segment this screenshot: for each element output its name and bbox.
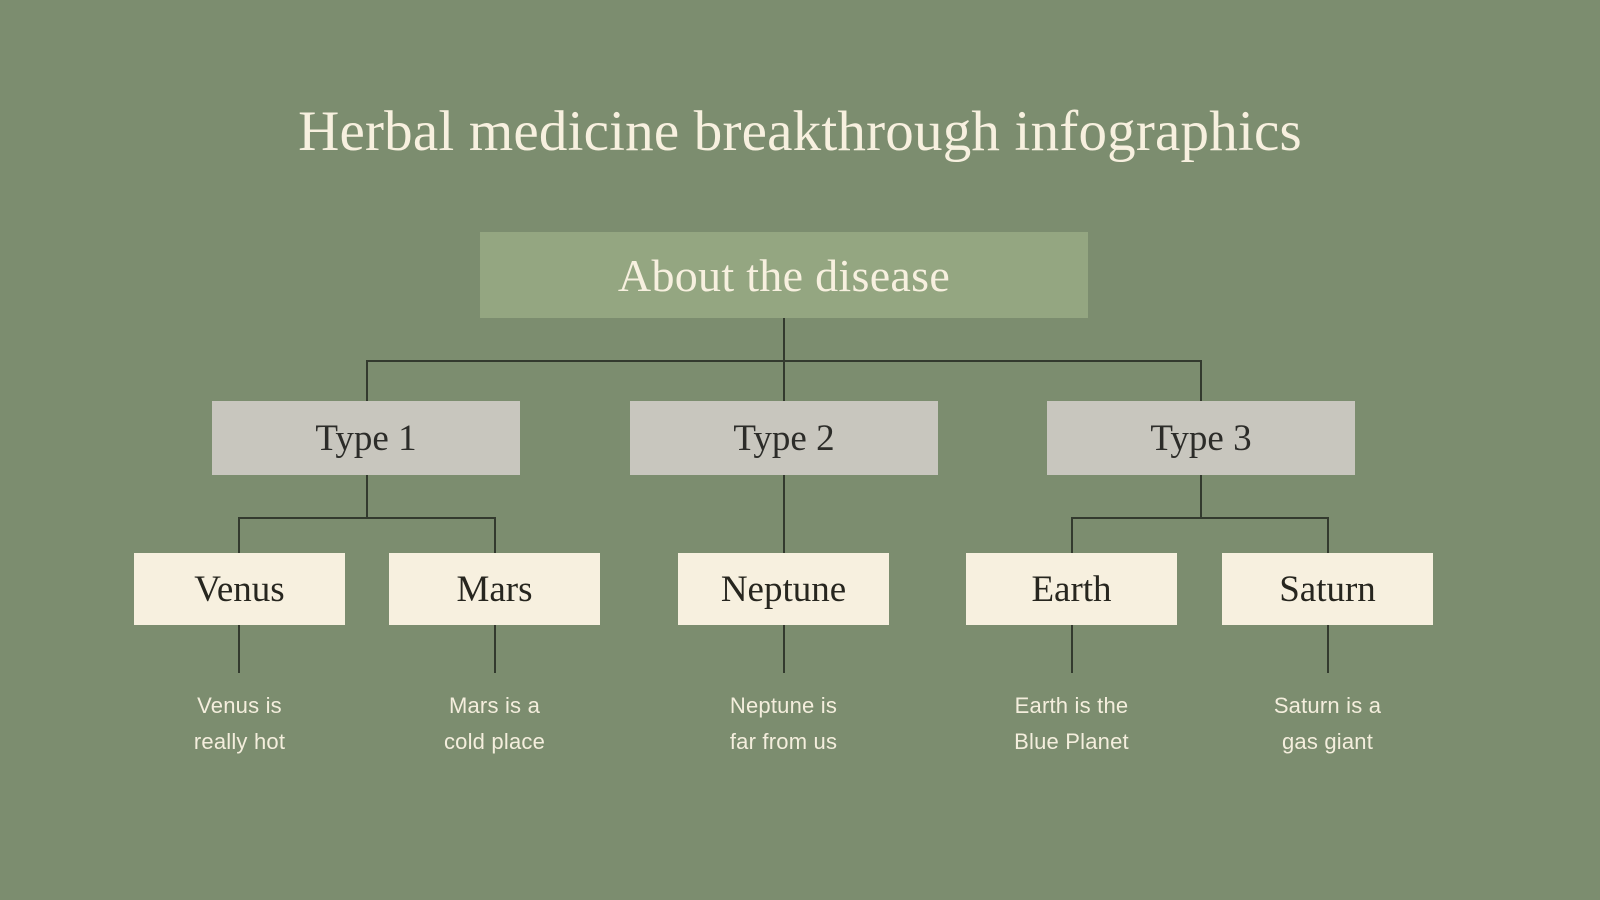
branch-node-type-1[interactable]: Type 1 <box>212 401 520 475</box>
connector-drop-type-2 <box>783 360 785 402</box>
infographic-canvas: Herbal medicine breakthrough infographic… <box>0 0 1600 900</box>
caption-venus-line-2: really hot <box>134 724 345 760</box>
caption-saturn: Saturn is a gas giant <box>1222 688 1433 760</box>
leaf-node-venus[interactable]: Venus <box>134 553 345 625</box>
caption-earth: Earth is the Blue Planet <box>966 688 1177 760</box>
caption-venus-line-1: Venus is <box>134 688 345 724</box>
root-node-label: About the disease <box>618 249 950 302</box>
connector-drop-type-3 <box>1200 360 1202 402</box>
caption-mars-line-1: Mars is a <box>389 688 600 724</box>
connector-type-1-trunk <box>366 475 368 518</box>
connector-stub-venus <box>238 625 240 673</box>
branch-node-type-3[interactable]: Type 3 <box>1047 401 1355 475</box>
caption-earth-line-1: Earth is the <box>966 688 1177 724</box>
leaf-node-label-saturn: Saturn <box>1279 568 1376 611</box>
page-title: Herbal medicine breakthrough infographic… <box>0 96 1600 168</box>
caption-neptune-line-2: far from us <box>678 724 889 760</box>
caption-saturn-line-1: Saturn is a <box>1222 688 1433 724</box>
branch-node-label-type-2: Type 2 <box>733 417 834 460</box>
connector-type-1-bus <box>239 517 496 519</box>
leaf-node-label-earth: Earth <box>1031 568 1111 611</box>
caption-mars: Mars is a cold place <box>389 688 600 760</box>
caption-saturn-line-2: gas giant <box>1222 724 1433 760</box>
connector-root-trunk <box>783 318 785 361</box>
connector-stub-mars <box>494 625 496 673</box>
connector-type-3-bus <box>1072 517 1328 519</box>
connector-drop-earth <box>1071 517 1073 554</box>
connector-stub-neptune <box>783 625 785 673</box>
connector-type-3-trunk <box>1200 475 1202 518</box>
caption-neptune-line-1: Neptune is <box>678 688 889 724</box>
caption-earth-line-2: Blue Planet <box>966 724 1177 760</box>
caption-mars-line-2: cold place <box>389 724 600 760</box>
leaf-node-label-neptune: Neptune <box>721 568 846 611</box>
leaf-node-label-venus: Venus <box>194 568 284 611</box>
connector-drop-type-1 <box>366 360 368 402</box>
connector-drop-saturn <box>1327 517 1329 554</box>
leaf-node-saturn[interactable]: Saturn <box>1222 553 1433 625</box>
leaf-node-neptune[interactable]: Neptune <box>678 553 889 625</box>
leaf-node-mars[interactable]: Mars <box>389 553 600 625</box>
leaf-node-label-mars: Mars <box>456 568 532 611</box>
root-node-about-the-disease[interactable]: About the disease <box>480 232 1088 318</box>
leaf-node-earth[interactable]: Earth <box>966 553 1177 625</box>
connector-type-2-trunk <box>783 475 785 554</box>
connector-stub-saturn <box>1327 625 1329 673</box>
connector-stub-earth <box>1071 625 1073 673</box>
connector-drop-venus <box>238 517 240 554</box>
branch-node-label-type-3: Type 3 <box>1150 417 1251 460</box>
branch-node-type-2[interactable]: Type 2 <box>630 401 938 475</box>
caption-venus: Venus is really hot <box>134 688 345 760</box>
caption-neptune: Neptune is far from us <box>678 688 889 760</box>
branch-node-label-type-1: Type 1 <box>315 417 416 460</box>
connector-drop-mars <box>494 517 496 554</box>
